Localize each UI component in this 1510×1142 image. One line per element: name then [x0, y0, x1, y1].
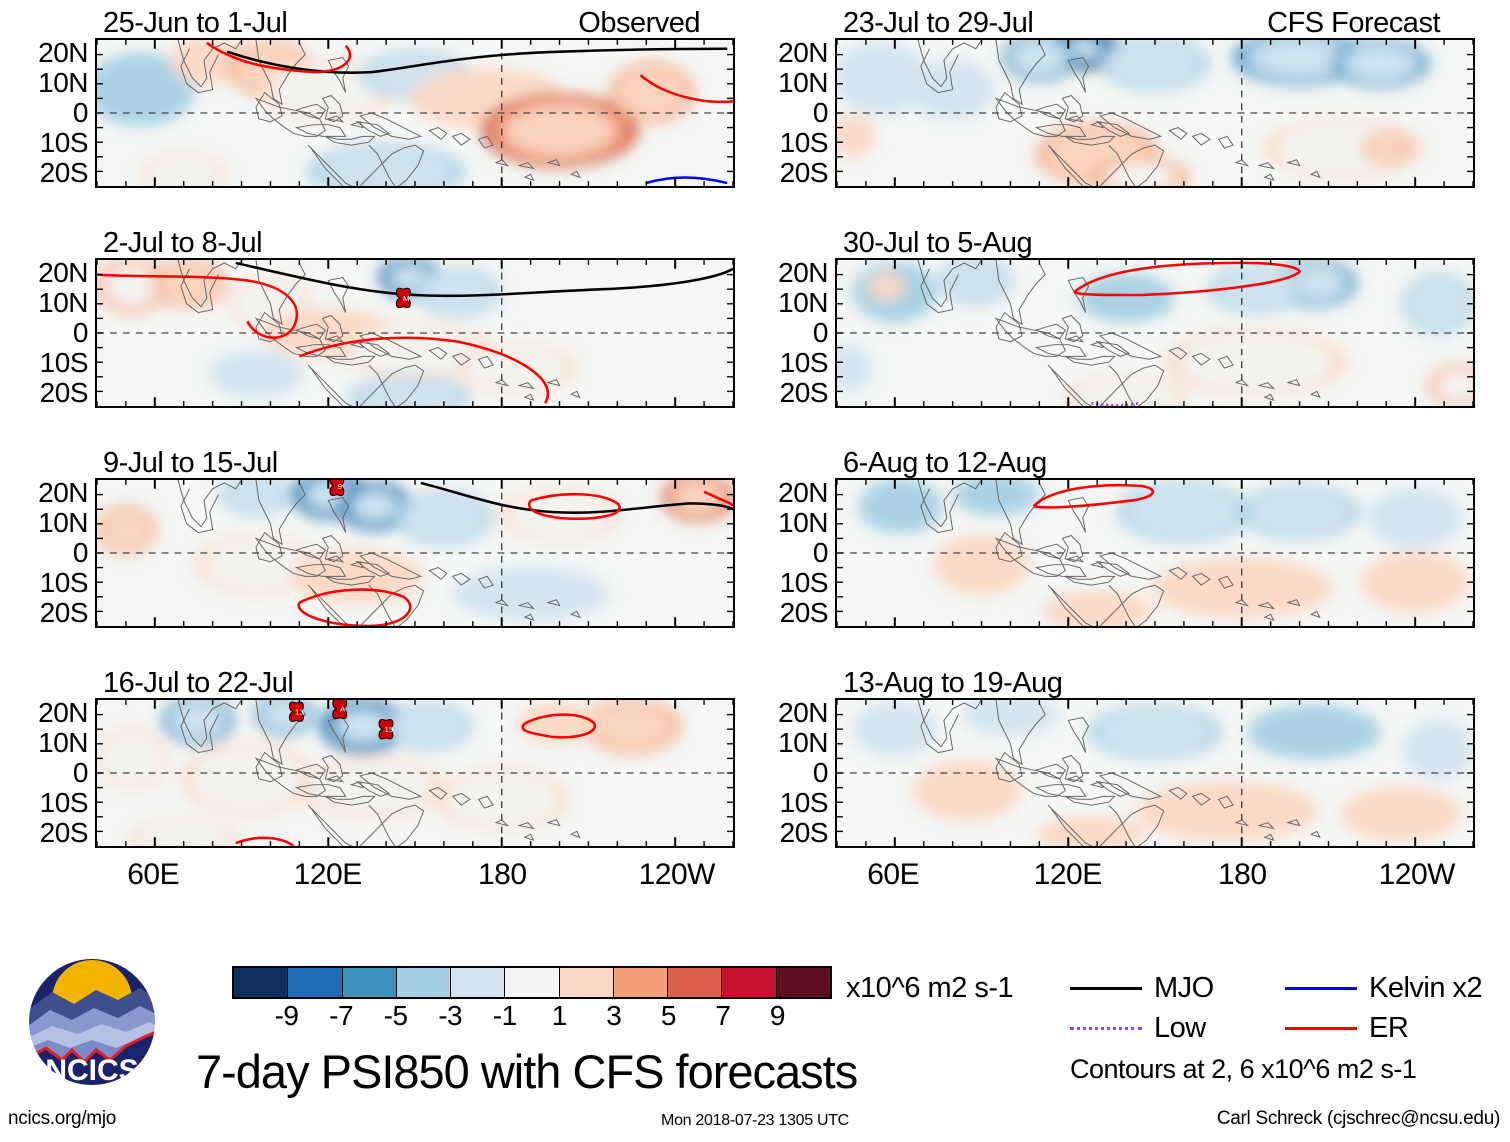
- anomaly-shading: [912, 760, 1021, 821]
- colorbar-tick-label: -7: [329, 1000, 353, 1032]
- legend-label-er: ER: [1369, 1012, 1408, 1045]
- anomaly-shading: [933, 534, 1030, 595]
- map-panel-obs-4: 13A15: [95, 698, 735, 848]
- colorbar: -9-7-5-3-113579: [232, 966, 832, 1033]
- y-axis-labels: 20N10N010S20S: [740, 38, 832, 188]
- y-axis-tick-label: 0: [813, 539, 828, 567]
- colorbar-tick-label: -9: [275, 1000, 299, 1032]
- anomaly-shading: [1127, 486, 1240, 538]
- map-panel-obs-3: 9: [95, 478, 735, 628]
- y-axis-tick-label: 0: [73, 759, 88, 787]
- map-panel-obs-2: M: [95, 258, 735, 408]
- map-panel-fcst-1: [835, 38, 1475, 188]
- anomaly-shading: [505, 105, 615, 156]
- anomaly-shading: [393, 705, 465, 747]
- y-axis-tick-label: 10N: [38, 69, 88, 97]
- y-axis-tick-label: 10N: [778, 289, 828, 317]
- anomaly-shading: [1179, 334, 1333, 391]
- y-axis-tick-label: 20S: [40, 819, 88, 847]
- y-axis-tick-label: 20S: [780, 599, 828, 627]
- anomaly-shading: [1014, 40, 1065, 74]
- y-axis-tick-label: 20N: [778, 259, 828, 287]
- legend-label-kelvin: Kelvin x2: [1369, 972, 1482, 1005]
- anomaly-shading: [591, 703, 673, 750]
- svg-text:M: M: [403, 294, 410, 303]
- map-panel-obs-1: [95, 38, 735, 188]
- y-axis-tick-label: 0: [813, 759, 828, 787]
- x-axis-tick-label: 120W: [1379, 858, 1455, 892]
- anomaly-shading: [1098, 709, 1211, 756]
- ncics-logo: NCICS: [22, 952, 162, 1092]
- legend-item-low: Low: [1070, 1012, 1285, 1045]
- storm-marker-icon: A: [333, 700, 347, 718]
- panel-title-obs-4: 16-Jul to 22-Jul: [103, 667, 293, 700]
- legend-label-mjo: MJO: [1154, 972, 1214, 1005]
- colorbar-segment-2: [343, 968, 397, 997]
- y-axis-tick-label: 10S: [40, 569, 88, 597]
- anomaly-shading: [1402, 719, 1473, 780]
- anomaly-shading: [207, 349, 304, 398]
- y-axis-tick-label: 20S: [40, 379, 88, 407]
- anomaly-shading: [508, 492, 611, 539]
- y-axis-labels: 20N10N010S20S: [0, 478, 92, 628]
- y-axis-tick-label: 0: [73, 99, 88, 127]
- contour-note: Contours at 2, 6 x10^6 m2 s-1: [1070, 1054, 1500, 1085]
- colorbar-tick-label: 9: [770, 1000, 785, 1032]
- colorbar-tick-label: -1: [493, 1000, 517, 1032]
- x-axis-tick-label: 180: [478, 858, 527, 892]
- anomaly-shading: [1109, 40, 1202, 87]
- y-axis-tick-label: 0: [813, 99, 828, 127]
- panel-obs-2: 20N10N010S20S2-Jul to 8-JulM: [0, 228, 700, 428]
- column-header-observed: Observed: [578, 7, 700, 40]
- panel-fcst-4: 20N10N010S20S13-Aug to 19-Aug60E120E1801…: [740, 668, 1440, 868]
- panel-fcst-2: 20N10N010S20S30-Jul to 5-Aug: [740, 228, 1440, 428]
- panel-grid: 20N10N010S20S25-Jun to 1-JulObserved20N1…: [0, 0, 1510, 930]
- anomaly-shading: [191, 748, 304, 810]
- y-axis-tick-label: 10N: [38, 509, 88, 537]
- y-axis-tick-label: 10N: [778, 69, 828, 97]
- anomaly-shading: [403, 495, 485, 542]
- y-axis-tick-label: 10S: [780, 129, 828, 157]
- x-axis-tick-label: 60E: [127, 858, 179, 892]
- colorbar-tick-label: 5: [661, 1000, 676, 1032]
- legend: MJO Kelvin x2 Low ER Contours at 2, 6 x1…: [1070, 968, 1500, 1085]
- y-axis-tick-label: 10S: [40, 129, 88, 157]
- kelvin-line-icon: [1285, 987, 1357, 990]
- y-axis-tick-label: 0: [813, 319, 828, 347]
- colorbar-tick-label: -3: [438, 1000, 462, 1032]
- colorbar-segment-9: [722, 968, 776, 997]
- panel-title-fcst-4: 13-Aug to 19-Aug: [843, 667, 1062, 700]
- panel-title-obs-1: 25-Jun to 1-Jul: [103, 7, 287, 40]
- colorbar-tick-label: 7: [715, 1000, 730, 1032]
- legend-row-1: MJO Kelvin x2: [1070, 968, 1500, 1008]
- anomaly-shading: [1253, 40, 1346, 77]
- colorbar-segment-3: [397, 968, 451, 997]
- y-axis-tick-label: 20S: [780, 159, 828, 187]
- anomaly-shading: [106, 267, 157, 305]
- y-axis-tick-label: 10N: [778, 509, 828, 537]
- anomaly-shading: [1248, 489, 1351, 536]
- map-panel-fcst-2: [835, 258, 1475, 408]
- y-axis-tick-label: 10N: [38, 729, 88, 757]
- y-axis-labels: 20N10N010S20S: [740, 258, 832, 408]
- footer-left: ncics.org/mjo: [8, 1108, 116, 1130]
- y-axis-tick-label: 10N: [778, 729, 828, 757]
- mjo-line-icon: [1070, 987, 1142, 990]
- panel-title-obs-3: 9-Jul to 15-Jul: [103, 447, 278, 480]
- panel-title-fcst-3: 6-Aug to 12-Aug: [843, 447, 1047, 480]
- panel-title-obs-2: 2-Jul to 8-Jul: [103, 227, 262, 260]
- footer-center: Mon 2018-07-23 1305 UTC: [661, 1112, 849, 1130]
- colorbar-segment-5: [505, 968, 559, 997]
- map-panel-fcst-4: [835, 698, 1475, 848]
- colorbar-segment-7: [614, 968, 668, 997]
- svg-text:13: 13: [295, 708, 304, 717]
- y-axis-tick-label: 20S: [780, 379, 828, 407]
- y-axis-tick-label: 20S: [780, 819, 828, 847]
- legend-item-mjo: MJO: [1070, 972, 1285, 1005]
- svg-text:9: 9: [338, 482, 342, 491]
- y-axis-labels: 20N10N010S20S: [740, 478, 832, 628]
- anomaly-shading: [100, 509, 151, 551]
- anomaly-shading: [852, 702, 937, 757]
- legend-label-low: Low: [1154, 1012, 1206, 1045]
- panel-title-fcst-1: 23-Jul to 29-Jul: [843, 7, 1033, 40]
- anomaly-shading: [422, 271, 494, 313]
- panel-fcst-1: 20N10N010S20S23-Jul to 29-JulCFS Forecas…: [740, 8, 1440, 208]
- colorbar-ticks: -9-7-5-3-113579: [232, 999, 832, 1033]
- x-axis-tick-label: 120E: [1034, 858, 1102, 892]
- y-axis-tick-label: 20S: [40, 599, 88, 627]
- panel-obs-3: 20N10N010S20S9-Jul to 15-Jul9: [0, 448, 700, 648]
- anomaly-shading: [310, 762, 433, 814]
- y-axis-tick-label: 20N: [38, 479, 88, 507]
- y-axis-tick-label: 20N: [38, 39, 88, 67]
- panel-obs-1: 20N10N010S20S25-Jun to 1-JulObserved: [0, 8, 700, 208]
- y-axis-tick-label: 10S: [780, 569, 828, 597]
- svg-text:A: A: [340, 705, 346, 714]
- y-axis-tick-label: 0: [73, 539, 88, 567]
- colorbar-tick-label: -5: [384, 1000, 408, 1032]
- y-axis-tick-label: 20N: [38, 699, 88, 727]
- colorbar-segment-1: [288, 968, 342, 997]
- legend-row-2: Low ER: [1070, 1008, 1500, 1048]
- low-line-icon: [1070, 1027, 1142, 1030]
- svg-text:15: 15: [385, 725, 394, 734]
- colorbar-swatches: [232, 966, 832, 999]
- y-axis-labels: 20N10N010S20S: [0, 38, 92, 188]
- storm-marker-icon: 9: [330, 480, 344, 496]
- y-axis-tick-label: 20N: [778, 699, 828, 727]
- column-header-forecast: CFS Forecast: [1267, 7, 1440, 40]
- anomaly-shading: [1366, 135, 1407, 161]
- y-axis-tick-label: 10S: [40, 789, 88, 817]
- y-axis-labels: 20N10N010S20S: [740, 698, 832, 848]
- anomaly-shading: [101, 732, 163, 784]
- panel-title-fcst-2: 30-Jul to 5-Aug: [843, 227, 1032, 260]
- anomaly-shading: [616, 67, 688, 119]
- y-axis-tick-label: 20N: [38, 259, 88, 287]
- anomaly-shading: [945, 260, 1007, 301]
- panel-obs-4: 20N10N010S20S16-Jul to 22-Jul13A1560E120…: [0, 668, 700, 868]
- anomaly-shading: [1367, 487, 1464, 548]
- y-axis-tick-label: 20S: [40, 159, 88, 187]
- y-axis-tick-label: 10S: [780, 349, 828, 377]
- map-panel-fcst-3: [835, 478, 1475, 628]
- y-axis-tick-label: 20N: [778, 479, 828, 507]
- colorbar-segment-6: [560, 968, 614, 997]
- anomaly-shading: [355, 493, 395, 520]
- y-axis-tick-label: 20N: [778, 39, 828, 67]
- anomaly-shading: [868, 271, 904, 302]
- colorbar-tick-label: 3: [606, 1000, 621, 1032]
- x-axis-tick-label: 120W: [639, 858, 715, 892]
- anomaly-shading: [1247, 705, 1381, 760]
- x-axis-tick-label: 180: [1218, 858, 1267, 892]
- main-title: 7-day PSI850 with CFS forecasts: [196, 1044, 857, 1099]
- anomaly-shading: [1361, 552, 1470, 613]
- anomaly-shading: [452, 566, 610, 621]
- x-axis-tick-label: 120E: [294, 858, 362, 892]
- anomaly-shading: [1407, 278, 1469, 330]
- colorbar-segment-10: [777, 968, 830, 997]
- anomaly-shading: [1340, 786, 1461, 841]
- panel-fcst-3: 20N10N010S20S6-Aug to 12-Aug: [740, 448, 1440, 648]
- ncics-logo-icon: NCICS: [22, 952, 162, 1092]
- y-axis-tick-label: 10N: [38, 289, 88, 317]
- anomaly-shading: [858, 480, 943, 534]
- colorbar-units: x10^6 m2 s-1: [846, 972, 1013, 1005]
- y-axis-labels: 20N10N010S20S: [0, 698, 92, 848]
- y-axis-tick-label: 10S: [780, 789, 828, 817]
- footer-right: Carl Schreck (cjschrec@ncsu.edu): [1217, 1108, 1500, 1130]
- colorbar-tick-label: 1: [552, 1000, 567, 1032]
- legend-item-er: ER: [1285, 1012, 1500, 1045]
- anomaly-shading: [1347, 46, 1415, 80]
- y-axis-tick-label: 0: [73, 319, 88, 347]
- logo-text: NCICS: [45, 1054, 138, 1087]
- colorbar-segment-8: [668, 968, 722, 997]
- colorbar-segment-0: [234, 968, 288, 997]
- colorbar-segment-4: [451, 968, 505, 997]
- anomaly-shading: [465, 347, 568, 389]
- y-axis-tick-label: 10S: [40, 349, 88, 377]
- legend-item-kelvin: Kelvin x2: [1285, 972, 1500, 1005]
- x-axis-tick-label: 60E: [867, 858, 919, 892]
- y-axis-labels: 20N10N010S20S: [0, 258, 92, 408]
- er-line-icon: [1285, 1027, 1357, 1030]
